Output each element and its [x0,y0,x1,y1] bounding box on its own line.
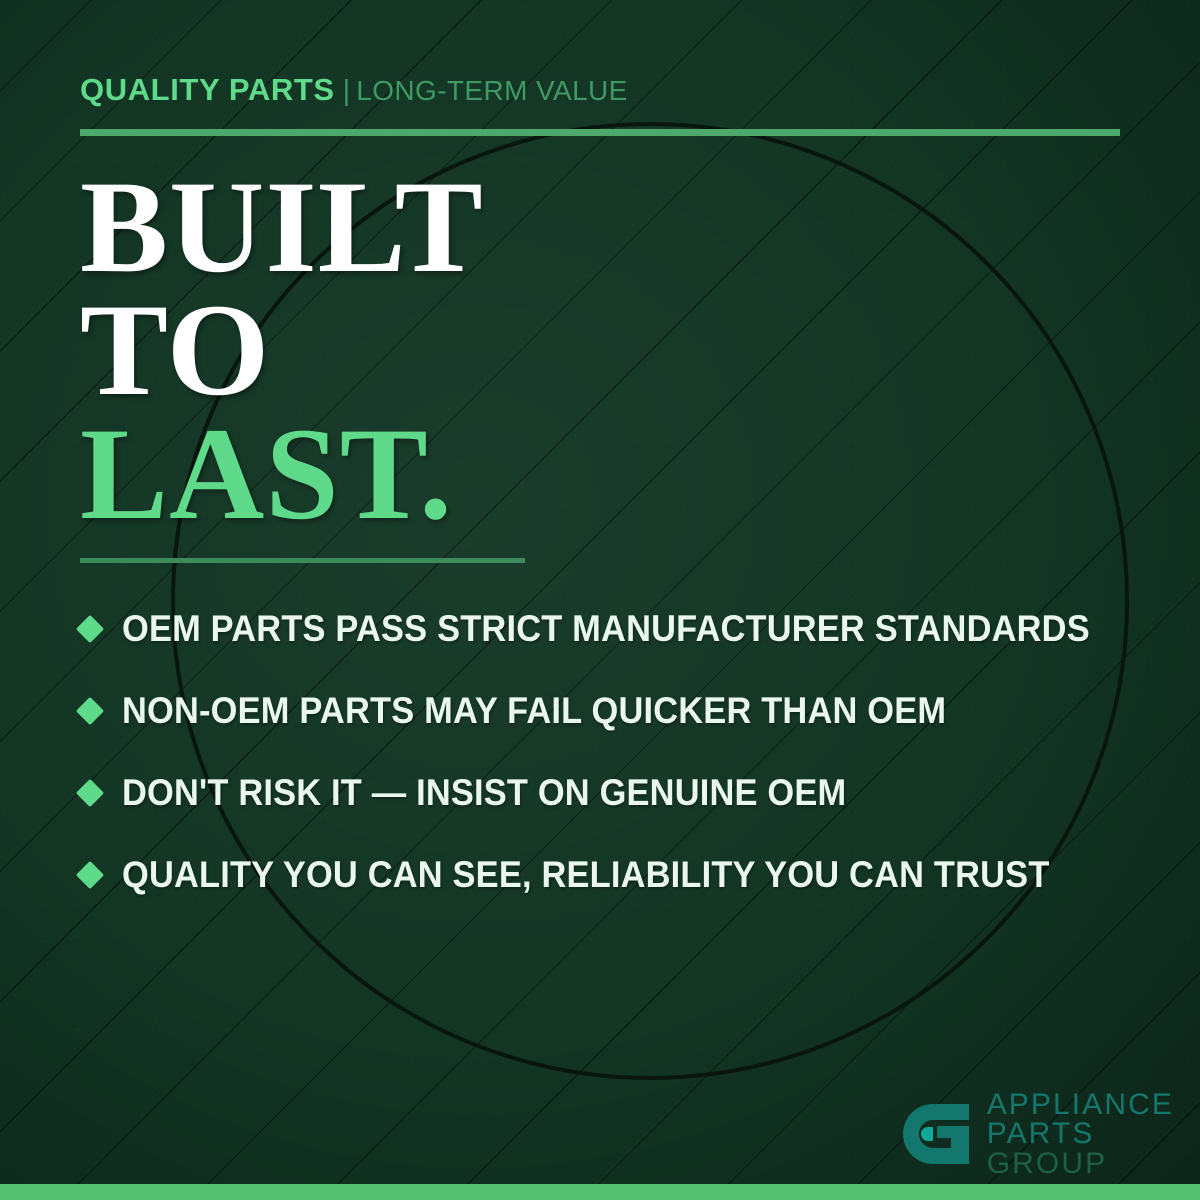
logo-word-appliance: APPLIANCE [987,1090,1174,1119]
brand-logo: APPLIANCE PARTS GROUP [899,1090,1174,1178]
list-item: DON'T RISK IT — INSIST ON GENUINE OEM [80,752,1140,834]
logo-word-parts: PARTS [987,1119,1174,1148]
list-item: NON-OEM PARTS MAY FAIL QUICKER THAN OEM [80,670,1140,752]
list-item-label: NON-OEM PARTS MAY FAIL QUICKER THAN OEM [122,690,946,732]
headline-line-1: BUILT [80,166,484,287]
diamond-bullet-icon [76,697,104,725]
logo-word-group: GROUP [987,1149,1174,1178]
headline-line-2: TO [80,289,484,410]
benefits-list: OEM PARTS PASS STRICT MANUFACTURER STAND… [80,588,1140,916]
diamond-bullet-icon [76,861,104,889]
poster-canvas: QUALITY PARTS|LONG-TERM VALUE BUILT TO L… [0,0,1200,1200]
list-item-label: DON'T RISK IT — INSIST ON GENUINE OEM [122,772,846,814]
eyebrow-kicker: QUALITY PARTS|LONG-TERM VALUE [80,74,628,106]
headline-divider-rule [80,558,525,563]
list-item: OEM PARTS PASS STRICT MANUFACTURER STAND… [80,588,1140,670]
eyebrow-strong-text: QUALITY PARTS [80,72,335,107]
diamond-bullet-icon [76,615,104,643]
list-item: QUALITY YOU CAN SEE, RELIABILITY YOU CAN… [80,834,1140,916]
eyebrow-separator: | [343,75,351,107]
g-monogram-icon [899,1096,975,1172]
eyebrow-light-text: LONG-TERM VALUE [356,75,628,106]
diamond-bullet-icon [76,779,104,807]
header-divider-rule [80,129,1120,136]
headline-line-3: LAST. [80,413,484,534]
headline-block: BUILT TO LAST. [80,166,484,536]
poster-content: QUALITY PARTS|LONG-TERM VALUE BUILT TO L… [0,0,1200,1200]
bottom-accent-bar [0,1184,1200,1200]
list-item-label: OEM PARTS PASS STRICT MANUFACTURER STAND… [122,608,1090,650]
list-item-label: QUALITY YOU CAN SEE, RELIABILITY YOU CAN… [122,854,1050,896]
brand-logo-wordmark: APPLIANCE PARTS GROUP [987,1090,1174,1178]
